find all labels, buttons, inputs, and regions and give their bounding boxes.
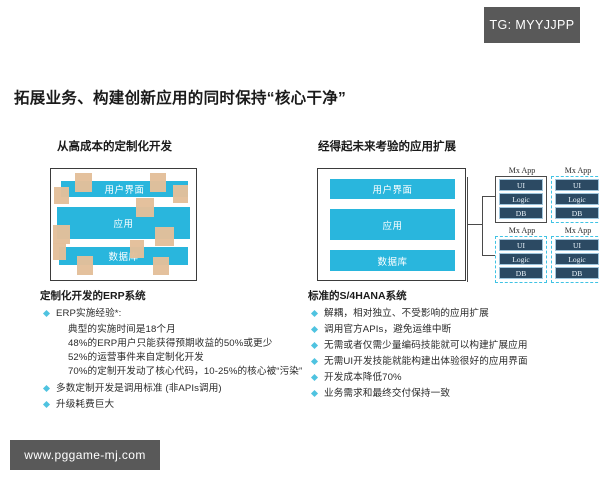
site-watermark-badge: www.pggame-mj.com: [10, 440, 160, 470]
list-subitem: 典型的实施时间是18个月: [68, 323, 330, 337]
list-item-label: 无需或者仅需少量编码技能就可以构建扩展应用: [324, 339, 528, 353]
connector-trunk: [467, 177, 468, 282]
list-item: 升级耗费巨大: [40, 398, 330, 412]
custom-code-chunk: [53, 243, 66, 260]
mx-app-cell-db: DB: [555, 267, 599, 279]
layer-bar-application: 应用: [330, 209, 455, 240]
custom-code-chunk: [54, 187, 69, 204]
diamond-bullet-icon: [311, 390, 318, 397]
list-item-label: ERP实施经验*:: [56, 307, 121, 321]
list-item-label: 无需UI开发技能就能构建出体验很好的应用界面: [324, 355, 528, 369]
list-item: 业务需求和最终交付保持一致: [308, 387, 598, 401]
list-subitem: 70%的定制开发动了核心代码，10-25%的核心被“污染”: [68, 365, 330, 379]
mx-app-label: Mx App: [552, 226, 600, 235]
legacy-erp-diagram: 用户界面 应用 数据库: [50, 168, 197, 281]
section-title: 定制化开发的ERP系统: [40, 288, 330, 303]
s4hana-section: 标准的S/4HANA系统 解耦，相对独立、不受影响的应用扩展 调用官方APIs，…: [308, 288, 598, 403]
connector-stem: [467, 224, 483, 225]
list-item-label: 业务需求和最终交付保持一致: [324, 387, 450, 401]
list-subitem: 52%的运营事件来自定制化开发: [68, 351, 330, 365]
list-item: ERP实施经验*:: [40, 307, 330, 321]
list-item: 无需UI开发技能就能构建出体验很好的应用界面: [308, 355, 598, 369]
section-title: 标准的S/4HANA系统: [308, 288, 598, 303]
custom-code-chunk: [136, 198, 154, 217]
custom-code-chunk: [173, 185, 188, 203]
connector-branch-bottom: [482, 255, 495, 256]
mx-app-cell-db: DB: [499, 207, 543, 219]
mx-app-cell-db: DB: [555, 207, 599, 219]
right-column-heading: 经得起未来考验的应用扩展: [318, 138, 456, 154]
diamond-bullet-icon: [43, 401, 50, 408]
list-item: 多数定制开发是调用标准 (非APIs调用): [40, 382, 330, 396]
mx-app-cell-ui: UI: [555, 179, 599, 191]
mx-app-box-1[interactable]: Mx App UI Logic DB: [495, 176, 547, 223]
list-item-label: 解耦，相对独立、不受影响的应用扩展: [324, 307, 489, 321]
mx-app-cell-logic: Logic: [499, 193, 543, 205]
custom-code-chunk: [150, 173, 166, 192]
custom-code-chunk: [155, 227, 174, 246]
layer-bar-database: 数据库: [330, 250, 455, 271]
mx-app-cell-logic: Logic: [555, 253, 599, 265]
custom-code-chunk: [53, 225, 70, 244]
diamond-bullet-icon: [311, 326, 318, 333]
page-title: 拓展业务、构建创新应用的同时保持“核心干净”: [14, 86, 346, 108]
mx-app-cell-ui: UI: [499, 179, 543, 191]
connector-branch-top: [482, 196, 495, 197]
list-item: 解耦，相对独立、不受影响的应用扩展: [308, 307, 598, 321]
list-item: 调用官方APIs，避免运维中断: [308, 323, 598, 337]
mx-app-cell-ui: UI: [555, 239, 599, 251]
layer-bar-ui: 用户界面: [330, 179, 455, 199]
mx-app-box-2[interactable]: Mx App UI Logic DB: [551, 176, 600, 223]
mx-app-box-4[interactable]: Mx App UI Logic DB: [551, 236, 600, 283]
custom-code-chunk: [153, 257, 169, 275]
list-subitem: 48%的ERP用户只能获得预期收益的50%或更少: [68, 337, 330, 351]
custom-code-chunk: [75, 173, 92, 192]
mx-app-cell-db: DB: [499, 267, 543, 279]
legacy-erp-section: 定制化开发的ERP系统 ERP实施经验*: 典型的实施时间是18个月 48%的E…: [40, 288, 330, 414]
diamond-bullet-icon: [311, 310, 318, 317]
diamond-bullet-icon: [43, 385, 50, 392]
mx-app-label: Mx App: [496, 166, 548, 175]
mx-app-box-3[interactable]: Mx App UI Logic DB: [495, 236, 547, 283]
tg-watermark-badge: TG: MYYJJPP: [484, 7, 580, 43]
custom-code-chunk: [77, 256, 93, 275]
list-item-label: 开发成本降低70%: [324, 371, 402, 385]
slide-canvas: TG: MYYJJPP www.pggame-mj.com 拓展业务、构建创新应…: [0, 0, 600, 480]
mx-app-label: Mx App: [496, 226, 548, 235]
list-item-label: 多数定制开发是调用标准 (非APIs调用): [56, 382, 222, 396]
list-item: 无需或者仅需少量编码技能就可以构建扩展应用: [308, 339, 598, 353]
mx-app-cell-logic: Logic: [499, 253, 543, 265]
mx-app-cell-ui: UI: [499, 239, 543, 251]
diamond-bullet-icon: [311, 358, 318, 365]
diamond-bullet-icon: [43, 310, 50, 317]
custom-code-chunk: [130, 240, 144, 258]
mx-app-label: Mx App: [552, 166, 600, 175]
left-column-heading: 从高成本的定制化开发: [57, 138, 172, 154]
diamond-bullet-icon: [311, 374, 318, 381]
s4hana-core-diagram: 用户界面 应用 数据库: [317, 168, 466, 281]
list-item: 开发成本降低70%: [308, 371, 598, 385]
connector-riser: [482, 196, 483, 256]
list-item-label: 升级耗费巨大: [56, 398, 114, 412]
diamond-bullet-icon: [311, 342, 318, 349]
list-item-label: 调用官方APIs，避免运维中断: [324, 323, 451, 337]
mx-app-cell-logic: Logic: [555, 193, 599, 205]
